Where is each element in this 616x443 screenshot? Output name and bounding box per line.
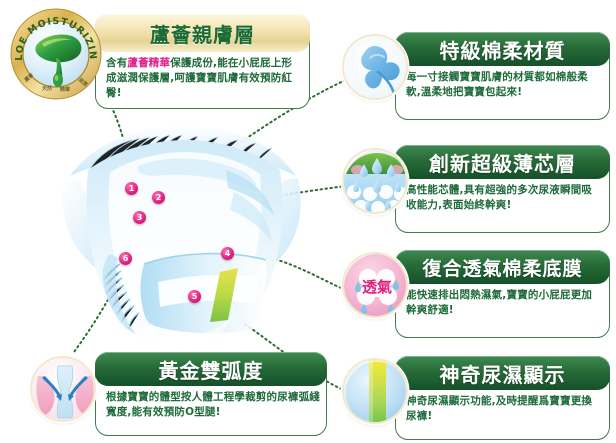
marker-1[interactable]: 1 bbox=[125, 182, 138, 195]
panel-aloe-body-pre: 含有 bbox=[106, 57, 127, 69]
panel-curve-header: 黃金雙弧度 bbox=[95, 352, 327, 386]
svg-text:天然: 天然 bbox=[42, 85, 52, 92]
breathable-icon-label: 透氣 bbox=[362, 278, 392, 296]
panel-curve-title: 黃金雙弧度 bbox=[159, 355, 264, 384]
marker-4[interactable]: 4 bbox=[221, 247, 234, 260]
panel-breathable-title: 復合透氣棉柔底膜 bbox=[422, 254, 582, 281]
panel-wetness-header: 神奇尿濕顯示 bbox=[395, 356, 610, 390]
panel-core-title: 創新超級薄芯層 bbox=[429, 148, 576, 177]
wetness-indicator-stripe-icon bbox=[342, 358, 408, 424]
aloe-leaf-badge-icon: ALOE MOISTURIZING 蘆薈 天然 精華 滋潤 bbox=[8, 6, 104, 102]
panel-curve-body: 根據寶寶的體型按人體工程學裁剪的尿褲弧綫寬度,能有效預防O型腿! bbox=[106, 390, 320, 420]
product-illustration bbox=[58, 118, 306, 356]
panel-core-header: 創新超級薄芯層 bbox=[395, 145, 610, 179]
panel-cotton-body: 每一寸接觸寶寶肌膚的材質都如棉般柔軟,溫柔地把寶寶包起來! bbox=[406, 70, 602, 100]
absorbent-core-droplets-icon bbox=[342, 148, 408, 214]
panel-wetness-body: 神奇尿濕顯示功能,及時提醒爲寶寶更換尿褲! bbox=[406, 394, 602, 424]
dual-curve-diaper-icon bbox=[30, 356, 96, 422]
panel-cotton-title: 特級棉柔材質 bbox=[440, 35, 566, 64]
marker-5[interactable]: 5 bbox=[188, 290, 201, 303]
panel-breathable-body: 能快速排出悶熱濕氣,寶寶的小屁屁更加幹爽舒適! bbox=[406, 288, 602, 318]
panel-core-body: 高性能芯體,具有超強的多次尿液瞬間吸收能力,表面始終幹爽! bbox=[406, 183, 602, 213]
marker-2[interactable]: 2 bbox=[152, 191, 165, 204]
panel-aloe-body: 含有蘆薈精華保護成份,能在小屁屁上形成滋潤保護層,呵護寶寶肌膚有效預防紅臀! bbox=[106, 56, 302, 101]
panel-aloe-title: 蘆薈親膚層 bbox=[150, 19, 255, 48]
infographic-canvas: 1 2 3 4 5 6 蘆薈親膚層 含有蘆薈精華保護成份,能在小屁屁上形成滋潤保… bbox=[0, 0, 616, 443]
panel-wetness-title: 神奇尿濕顯示 bbox=[440, 359, 566, 388]
marker-6[interactable]: 6 bbox=[119, 252, 132, 265]
panel-aloe-header: 蘆薈親膚層 bbox=[95, 14, 310, 52]
panel-aloe-body-highlight: 蘆薈精華 bbox=[127, 57, 170, 69]
cotton-flower-icon bbox=[342, 34, 408, 100]
breathable-icon: 透氣 bbox=[342, 252, 408, 318]
panel-cotton-header: 特級棉柔材質 bbox=[395, 32, 610, 66]
marker-3[interactable]: 3 bbox=[133, 211, 146, 224]
panel-breathable-header: 復合透氣棉柔底膜 bbox=[395, 250, 610, 284]
svg-text:精華: 精華 bbox=[60, 86, 70, 93]
